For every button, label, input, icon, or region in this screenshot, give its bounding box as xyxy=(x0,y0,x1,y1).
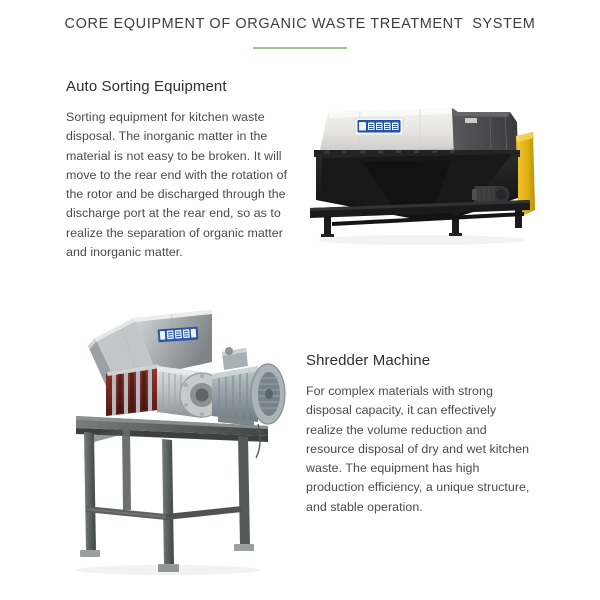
sorting-ground-shadow xyxy=(318,235,526,245)
shredder-blade-stack xyxy=(106,364,160,416)
title-divider xyxy=(253,47,347,49)
page-title: CORE EQUIPMENT OF ORGANIC WASTE TREATMEN… xyxy=(0,16,600,32)
shredder-body: For complex materials with strong dispos… xyxy=(306,382,534,517)
shredder-logo-plate xyxy=(158,327,199,343)
auto-sorting-heading: Auto Sorting Equipment xyxy=(66,78,294,95)
auto-sorting-equipment-image xyxy=(302,88,540,264)
shredder-machine-image xyxy=(62,300,306,584)
shredder-text-block: Shredder Machine For complex materials w… xyxy=(306,352,534,517)
auto-sorting-body: Sorting equipment for kitchen waste disp… xyxy=(66,108,294,262)
shredder-ground-shadow xyxy=(76,565,260,575)
sorting-drive-motor xyxy=(472,186,510,203)
auto-sorting-text-block: Auto Sorting Equipment Sorting equipment… xyxy=(66,78,294,262)
shredder-heading: Shredder Machine xyxy=(306,352,534,369)
sorting-logo-plate xyxy=(355,118,403,135)
